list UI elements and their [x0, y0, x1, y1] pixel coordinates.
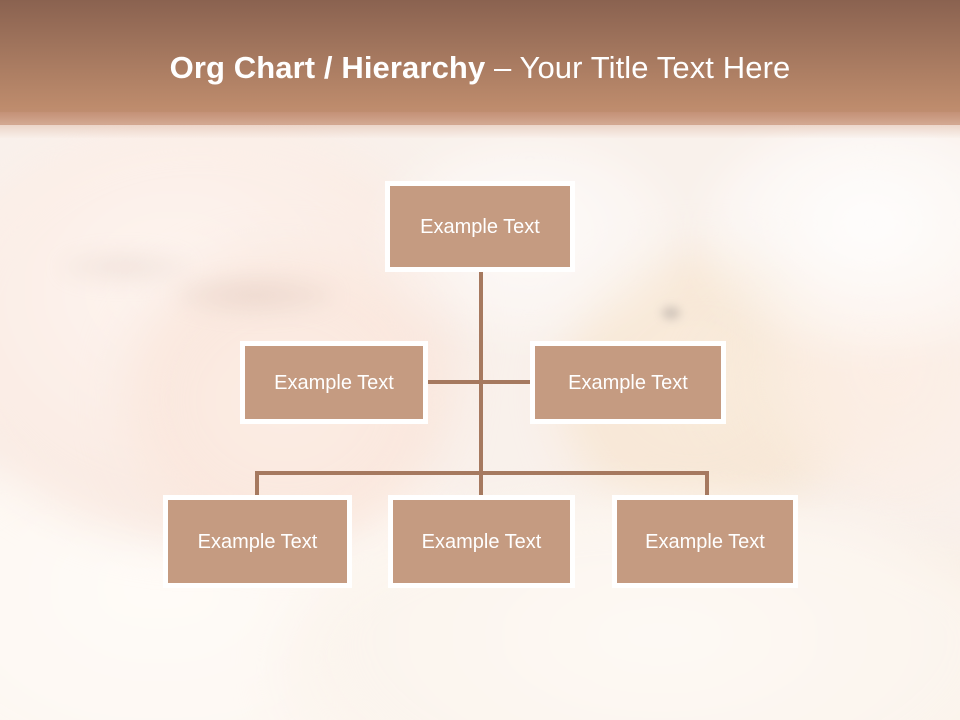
- connector-drop-leaf-3: [705, 471, 709, 495]
- org-node-mid-left[interactable]: Example Text: [240, 341, 428, 424]
- page-title-bold: Org Chart / Hierarchy: [170, 50, 486, 85]
- org-node-label: Example Text: [198, 530, 318, 554]
- org-node-mid-right[interactable]: Example Text: [530, 341, 726, 424]
- org-node-label: Example Text: [274, 371, 394, 395]
- connector-drop-leaf-2: [479, 471, 483, 495]
- org-node-leaf-2[interactable]: Example Text: [388, 495, 575, 588]
- page-title-regular: Your Title Text Here: [520, 50, 791, 85]
- org-node-label: Example Text: [422, 530, 542, 554]
- page-title: Org Chart / Hierarchy – Your Title Text …: [0, 49, 960, 87]
- org-node-label: Example Text: [645, 530, 765, 554]
- org-node-leaf-3[interactable]: Example Text: [612, 495, 798, 588]
- connector-drop-leaf-1: [255, 471, 259, 495]
- slide-canvas: Org Chart / Hierarchy – Your Title Text …: [0, 0, 960, 720]
- org-node-leaf-1[interactable]: Example Text: [163, 495, 352, 588]
- org-node-label: Example Text: [420, 215, 540, 239]
- org-node-root[interactable]: Example Text: [385, 181, 575, 272]
- page-title-separator: –: [485, 50, 519, 85]
- org-node-label: Example Text: [568, 371, 688, 395]
- connector-sibling-bar-level2: [428, 380, 530, 384]
